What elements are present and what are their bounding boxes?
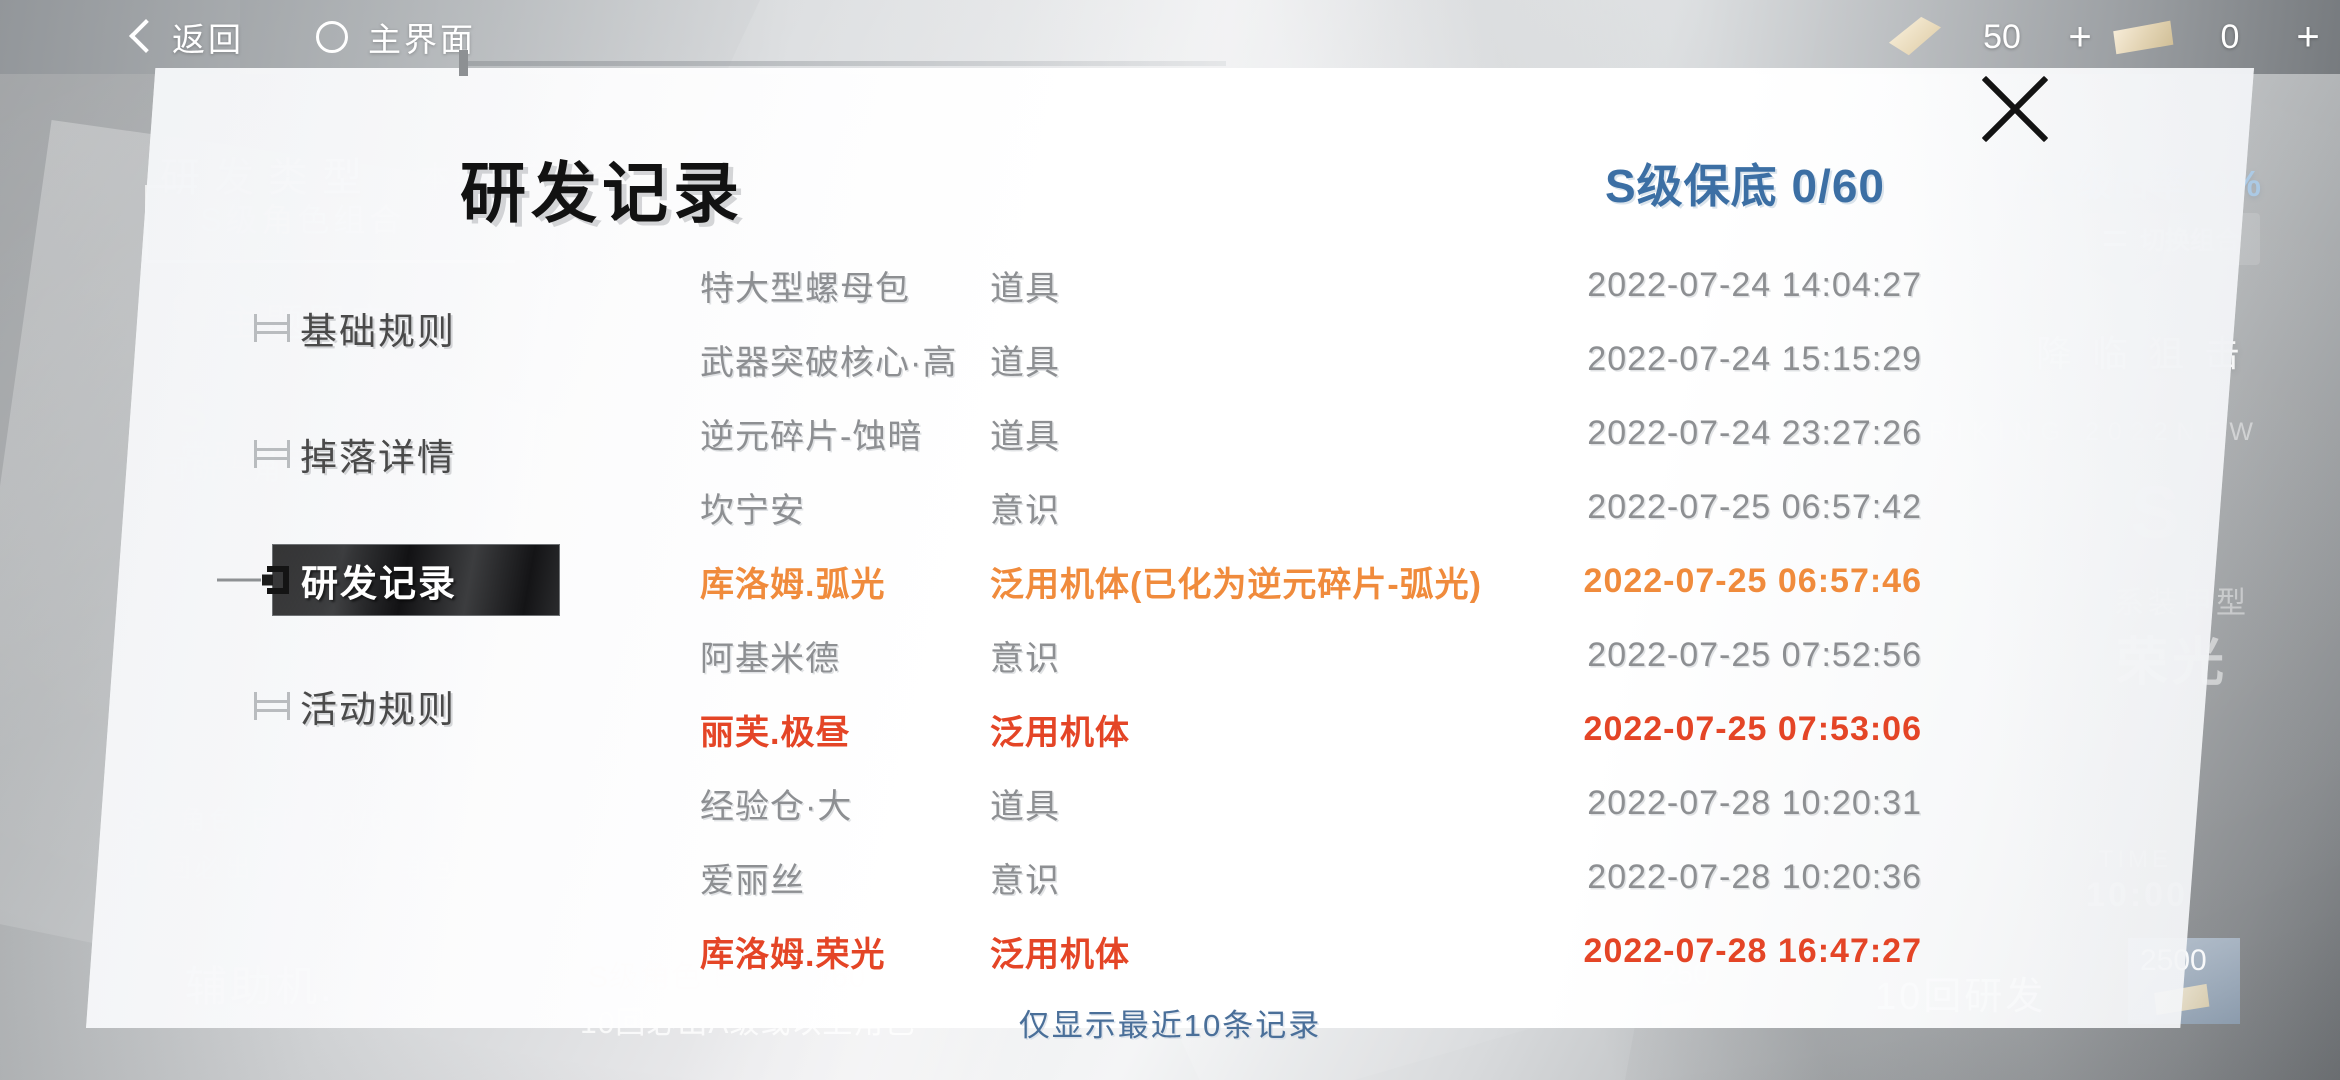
record-name: 逆元碎片-蚀暗 — [700, 409, 990, 458]
record-time: 2022-07-28 16:47:27 — [1510, 932, 1930, 971]
record-type: 泛用机体(已化为逆元碎片-弧光) — [990, 557, 1510, 606]
table-row: 库洛姆.弧光 泛用机体(已化为逆元碎片-弧光) 2022-07-25 06:57… — [700, 544, 1930, 618]
table-row: 经验仓·大 道具 2022-07-28 10:20:31 — [700, 766, 1930, 840]
back-button-label: 返回 — [172, 13, 244, 61]
record-time: 2022-07-25 07:52:56 — [1510, 636, 1930, 675]
ticket-add-button[interactable]: + — [2276, 15, 2340, 60]
record-type: 泛用机体 — [990, 705, 1510, 754]
close-icon[interactable] — [1965, 58, 2065, 158]
chevron-left-icon — [130, 18, 152, 56]
record-time: 2022-07-25 07:53:06 — [1510, 710, 1930, 749]
table-row: 特大型螺母包 道具 2022-07-24 14:04:27 — [700, 248, 1930, 322]
game-screen: 研发类型 本期限定组合 S级角色组合 S 主题限定 S 常驻角色 可研发角色 S… — [0, 0, 2340, 1080]
sidebar-item-label: 活动规则 — [272, 679, 456, 733]
dialog-top-accent-line — [466, 61, 1226, 66]
record-type: 道具 — [990, 409, 1510, 458]
record-type: 道具 — [990, 335, 1510, 384]
record-name: 库洛姆.荣光 — [700, 927, 990, 976]
table-row: 爱丽丝 意识 2022-07-28 10:20:36 — [700, 840, 1930, 914]
record-name: 阿基米德 — [700, 631, 990, 680]
record-limit-note: 仅显示最近10条记录 — [86, 1000, 2254, 1045]
record-name: 爱丽丝 — [700, 853, 990, 902]
record-name: 丽芙.极昼 — [700, 705, 990, 754]
sidebar-item-label: 研发记录 — [273, 553, 457, 607]
sidebar-item-research-record[interactable]: 研发记录 — [272, 544, 560, 616]
sidebar-item-basic-rules[interactable]: 基础规则 — [272, 292, 560, 364]
record-type: 道具 — [990, 779, 1510, 828]
record-time: 2022-07-24 23:27:26 — [1510, 414, 1930, 453]
record-name: 武器突破核心·高 — [700, 335, 990, 384]
home-button[interactable]: 主界面 — [316, 13, 476, 61]
record-name: 经验仓·大 — [700, 779, 990, 828]
record-type: 意识 — [990, 631, 1510, 680]
table-row: 库洛姆.荣光 泛用机体 2022-07-28 16:47:27 — [700, 914, 1930, 988]
ticket-currency-value: 0 — [2184, 18, 2276, 57]
record-type: 意识 — [990, 853, 1510, 902]
record-time: 2022-07-24 14:04:27 — [1510, 266, 1930, 305]
nut-currency-icon — [1884, 13, 1946, 61]
sidebar-item-label: 基础规则 — [272, 301, 456, 355]
research-record-table: 特大型螺母包 道具 2022-07-24 14:04:27 武器突破核心·高 道… — [700, 248, 1930, 988]
back-button[interactable]: 返回 — [130, 13, 244, 61]
table-row: 逆元碎片-蚀暗 道具 2022-07-24 23:27:26 — [700, 396, 1930, 470]
sidebar-item-drop-details[interactable]: 掉落详情 — [272, 418, 560, 490]
table-row: 武器突破核心·高 道具 2022-07-24 15:15:29 — [700, 322, 1930, 396]
record-name: 特大型螺母包 — [700, 261, 990, 310]
active-indicator — [217, 579, 261, 582]
record-time: 2022-07-28 10:20:36 — [1510, 858, 1930, 897]
table-row: 阿基米德 意识 2022-07-25 07:52:56 — [700, 618, 1930, 692]
table-row: 丽芙.极昼 泛用机体 2022-07-25 07:53:06 — [700, 692, 1930, 766]
table-row: 坎宁安 意识 2022-07-25 06:57:42 — [700, 470, 1930, 544]
record-type: 意识 — [990, 483, 1510, 532]
record-time: 2022-07-25 06:57:42 — [1510, 488, 1930, 527]
dialog-title: 研发记录 — [460, 140, 744, 236]
ticket-currency-icon — [2112, 13, 2174, 61]
currency-ticket: 0 + — [2112, 13, 2340, 61]
s-guarantee-badge: S级保底 0/60 — [1605, 150, 1885, 216]
record-name: 坎宁安 — [700, 483, 990, 532]
record-time: 2022-07-25 06:57:46 — [1510, 562, 1930, 601]
nut-add-button[interactable]: + — [2048, 15, 2112, 60]
dialog-sidebar: 基础规则 掉落详情 研发记录 活动规则 — [272, 292, 560, 742]
record-name: 库洛姆.弧光 — [700, 557, 990, 606]
circle-icon — [316, 21, 348, 53]
currency-bar: 50 + 0 + — [1884, 0, 2340, 74]
nut-currency-value: 50 — [1956, 18, 2048, 57]
currency-nut: 50 + — [1884, 13, 2112, 61]
record-type: 道具 — [990, 261, 1510, 310]
record-time: 2022-07-28 10:20:31 — [1510, 784, 1930, 823]
dialog-top-accent-dot — [459, 50, 468, 76]
record-type: 泛用机体 — [990, 927, 1510, 976]
sidebar-item-event-rules[interactable]: 活动规则 — [272, 670, 560, 742]
record-time: 2022-07-24 15:15:29 — [1510, 340, 1930, 379]
sidebar-item-label: 掉落详情 — [272, 427, 456, 481]
